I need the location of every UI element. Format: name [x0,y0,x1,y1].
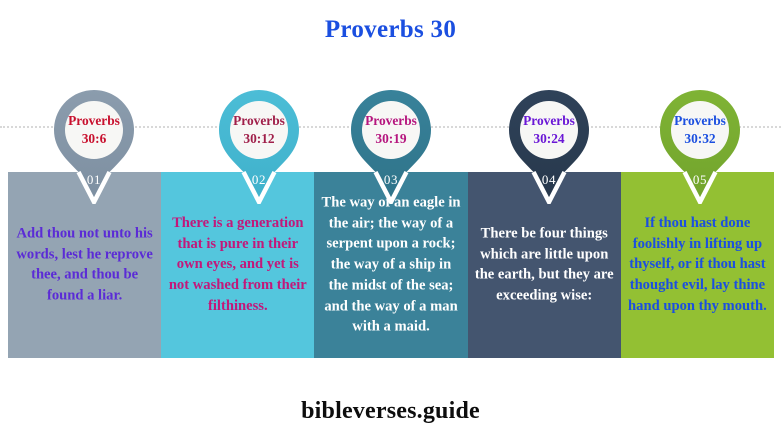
panel-verse-text: There is a generation that is pure in th… [167,213,308,317]
panel-verse-text: If thou hast done foolishly in lifting u… [627,213,768,317]
panel-verse-text: Add thou not unto his words, lest he rep… [14,224,155,307]
map-pin-marker-2[interactable]: Proverbs 30:12 02 [213,88,305,204]
panel-verse-text: There be four things which are little up… [474,224,615,307]
map-pin-marker-1[interactable]: Proverbs 30:6 01 [48,88,140,204]
map-pin-marker-4[interactable]: Proverbs 30:24 04 [503,88,595,204]
map-pin-marker-5[interactable]: Proverbs 30:32 05 [654,88,746,204]
infographic-canvas: Proverbs 30 Add thou not unto his words,… [0,0,781,438]
panel-verse-text: The way of an eagle in the air; the way … [320,192,461,337]
page-title: Proverbs 30 [0,16,781,44]
map-pin-marker-3[interactable]: Proverbs 30:19 03 [345,88,437,204]
site-footer-label: bibleverses.guide [0,398,781,425]
